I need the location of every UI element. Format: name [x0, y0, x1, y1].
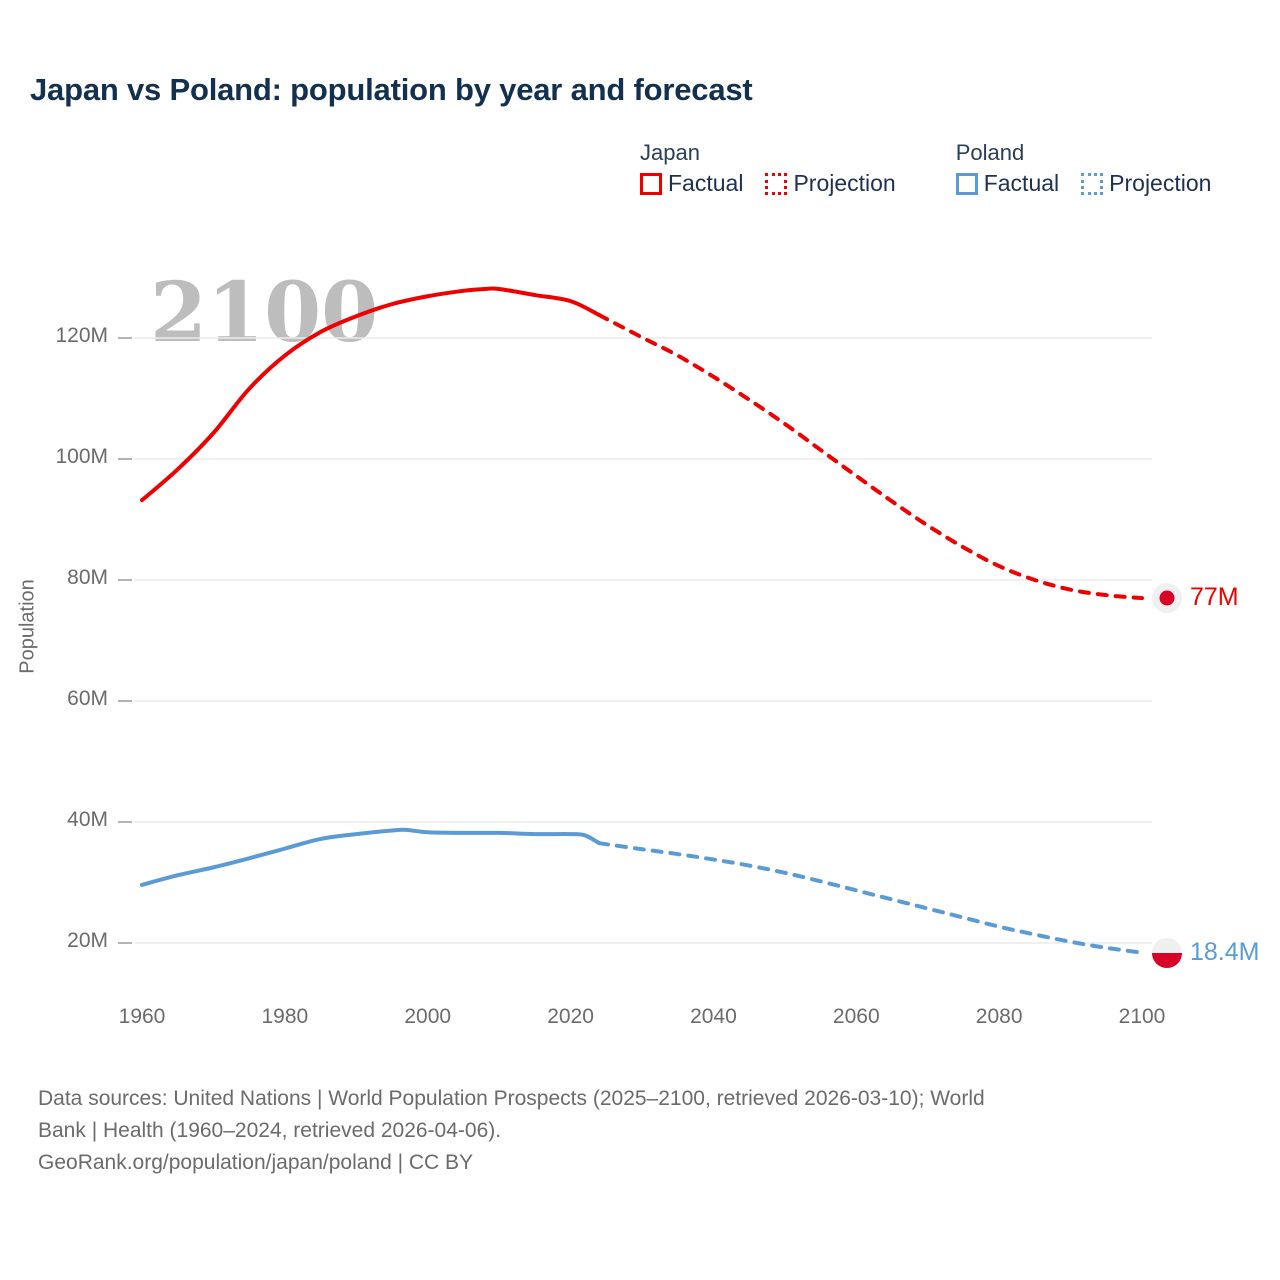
x-tick-label: 2060 — [801, 1005, 911, 1029]
x-tick-label: 2020 — [516, 1005, 626, 1029]
flag-poland-lower-band — [1152, 953, 1182, 968]
flag-japan-disc — [1160, 591, 1175, 606]
line-poland-projection — [599, 843, 1142, 953]
x-tick-label: 2100 — [1087, 1005, 1197, 1029]
x-tick-label: 2000 — [373, 1005, 483, 1029]
footer-sources: Data sources: United Nations | World Pop… — [38, 1083, 1238, 1179]
japan-end-value: 77M — [1190, 583, 1239, 612]
x-tick-label: 2080 — [944, 1005, 1054, 1029]
y-tick-label: 40M — [18, 808, 108, 832]
chart-svg — [0, 0, 1280, 1060]
footer-line-1: Data sources: United Nations | World Pop… — [38, 1083, 1238, 1115]
line-poland-factual — [142, 830, 599, 885]
y-tick-label: 20M — [18, 929, 108, 953]
y-tick-marks — [118, 338, 132, 943]
footer-line-2: Bank | Health (1960–2024, retrieved 2026… — [38, 1115, 1238, 1147]
flag-japan-icon — [1152, 583, 1182, 613]
x-tick-label: 2040 — [658, 1005, 768, 1029]
chart-page: Japan vs Poland: population by year and … — [0, 0, 1280, 1280]
flag-poland-icon — [1152, 938, 1182, 968]
x-tick-label: 1980 — [230, 1005, 340, 1029]
gridlines — [134, 338, 1152, 943]
footer-line-3: GeoRank.org/population/japan/poland | CC… — [38, 1147, 1238, 1179]
y-tick-label: 60M — [18, 687, 108, 711]
y-tick-label: 100M — [18, 445, 108, 469]
x-tick-label: 1960 — [87, 1005, 197, 1029]
y-tick-label: 80M — [18, 566, 108, 590]
y-tick-label: 120M — [18, 324, 108, 348]
poland-end-value: 18.4M — [1190, 938, 1259, 967]
line-japan-projection — [599, 315, 1142, 598]
plot-area: 2100 Population 20M40M60M80M100M120M 196… — [0, 0, 1280, 1060]
line-japan-factual — [142, 288, 599, 500]
